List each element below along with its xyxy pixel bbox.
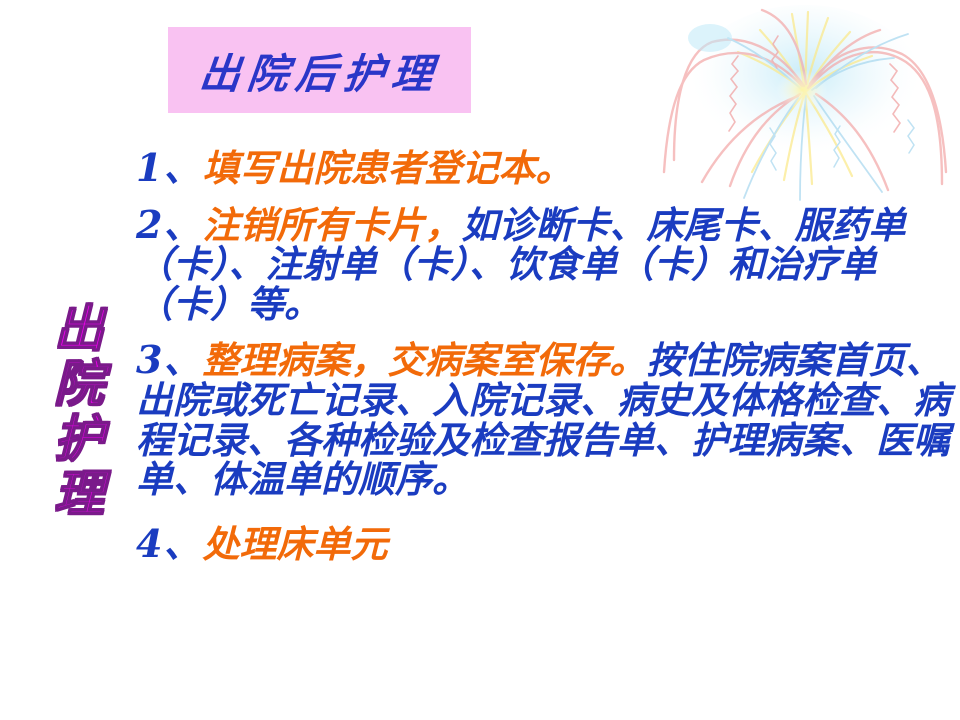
item-highlight: 整理病案，交病案室保存。 (202, 338, 646, 382)
list-item: 3、整理病案，交病案室保存。按住院病案首页、出院或死亡记录、入院记录、病史及体格… (136, 340, 952, 499)
list-item: 4、处理床单元 (136, 524, 952, 565)
item-number: 2、 (136, 202, 202, 247)
item-highlight: 注销所有卡片， (202, 203, 461, 247)
title-box: 出院后护理 (168, 27, 471, 113)
page-title: 出院后护理 (196, 40, 442, 100)
item-highlight: 填写出院患者登记本。 (202, 146, 572, 190)
list-item: 2、注销所有卡片，如诊断卡、床尾卡、服药单（卡）、注射单（卡）、饮食单（卡）和治… (136, 205, 952, 325)
side-label-char-1: 出 (54, 303, 104, 354)
side-vertical-label: 出 院 护 理 (46, 303, 112, 523)
side-label-char-3: 护 (54, 413, 104, 464)
side-label-char-2: 院 (54, 358, 104, 409)
slide-canvas: 出院后护理 出 院 护 理 1、填写出院患者登记本。 2、注销所有卡片，如诊断卡… (0, 0, 960, 720)
side-label-char-4: 理 (54, 468, 104, 519)
item-highlight: 处理床单元 (202, 522, 387, 566)
list-item: 1、填写出院患者登记本。 (136, 148, 952, 189)
item-number: 4、 (136, 521, 202, 566)
content-list: 1、填写出院患者登记本。 2、注销所有卡片，如诊断卡、床尾卡、服药单（卡）、注射… (136, 148, 952, 575)
item-number: 1、 (136, 145, 202, 190)
item-number: 3、 (136, 337, 202, 382)
